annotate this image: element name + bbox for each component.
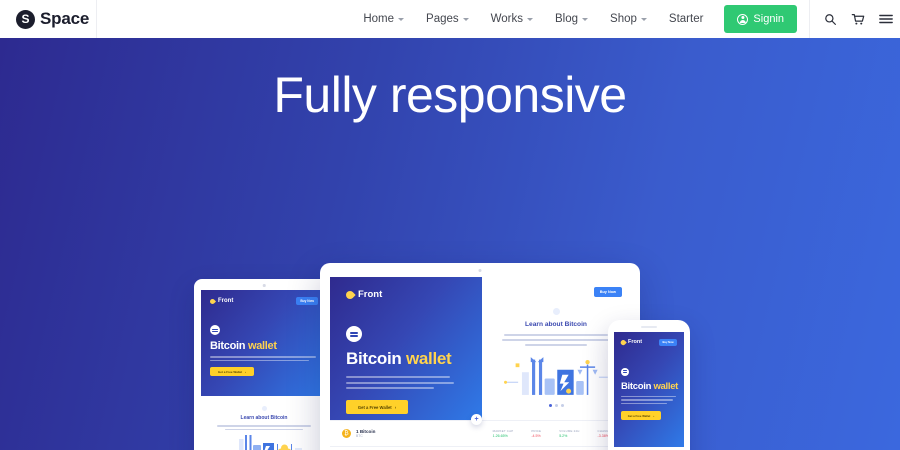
nav-item-blog[interactable]: Blog — [544, 0, 599, 38]
mock-subtext — [210, 356, 318, 361]
mock-brand: Front — [210, 298, 233, 304]
laptop-mockup: Front Buy Now Bitcoin wallet — [194, 279, 334, 450]
mock-hero-phone: Front Buy Now Bitcoin wallet — [614, 332, 684, 447]
nav-item-starter[interactable]: Starter — [658, 0, 715, 38]
nav-label: Works — [491, 13, 523, 25]
mock-cta-label: Get a Free Wallet — [218, 370, 242, 374]
chevron-down-icon — [463, 18, 469, 21]
stat-label: Market Cap — [493, 429, 514, 433]
nav-label: Starter — [669, 13, 704, 25]
nav-label: Blog — [555, 13, 578, 25]
info-badge-icon — [553, 308, 560, 315]
arrow-right-icon: › — [245, 370, 246, 374]
mock-stats-bar: ₿ 1 Bitcoin BTC Market Cap 1.26.65% Pric… — [330, 420, 630, 446]
stats-group: Market Cap 1.26.65% Price -4.5% Volume 2… — [493, 429, 618, 439]
mock-split-row: Front Bitcoin wallet — [330, 277, 630, 420]
device-showcase: Front Buy Now Bitcoin wallet — [0, 38, 900, 450]
bitcoin-logo-icon — [210, 325, 220, 335]
chevron-down-icon — [398, 18, 404, 21]
mock-headline-primary: Bitcoin — [210, 340, 245, 352]
main-nav: Home Pages Works Blog Shop Starter Signi… — [97, 0, 900, 38]
info-badge-icon — [262, 406, 267, 411]
mock-learn-laptop: Learn about Bitcoin — [201, 396, 327, 450]
chevron-down-icon — [641, 18, 647, 21]
nav-item-home[interactable]: Home — [352, 0, 415, 38]
carousel-dot[interactable] — [549, 404, 552, 407]
mock-cta-button[interactable]: Get a Free Wallet › — [621, 411, 661, 420]
signin-label: Signin — [753, 13, 784, 25]
camera-icon — [263, 284, 266, 287]
brand-logo[interactable]: S Space — [0, 0, 97, 38]
speaker-grill — [641, 326, 657, 328]
mock-cta-button[interactable]: Get a Free Wallet › — [346, 400, 408, 414]
mock-hero-tablet: Front Bitcoin wallet — [330, 277, 482, 420]
mock-hero-laptop: Front Buy Now Bitcoin wallet — [201, 290, 327, 396]
mock-section-title: Learn about Bitcoin — [201, 415, 327, 421]
bitcoin-logo-icon — [346, 326, 362, 342]
nav-label: Home — [363, 13, 394, 25]
mock-section-title: Learn about Bitcoin — [490, 321, 622, 328]
carousel-dot[interactable] — [561, 404, 564, 407]
mock-headline-primary: Bitcoin — [346, 349, 402, 368]
signin-button[interactable]: Signin — [724, 5, 797, 33]
nav-item-pages[interactable]: Pages — [415, 0, 480, 38]
mock-brand-label: Front — [358, 289, 382, 300]
mock-footer-strip — [330, 446, 630, 450]
phone-mockup: Front Buy Now Bitcoin wallet — [608, 320, 690, 450]
leaf-icon — [344, 289, 355, 300]
chevron-down-icon — [582, 18, 588, 21]
mock-headline-primary: Bitcoin — [621, 381, 651, 392]
mock-subtext — [346, 376, 466, 389]
nav-label: Pages — [426, 13, 459, 25]
bitcoin-coin-icon: ₿ — [342, 429, 351, 438]
stat-value: 1.26.65% — [493, 434, 514, 438]
stat-label: Price — [531, 429, 541, 433]
hamburger-icon[interactable] — [872, 0, 900, 38]
mock-buy-button[interactable]: Buy Now — [594, 287, 622, 297]
stat-price: Price -4.5% — [531, 429, 541, 439]
stat-market-cap: Market Cap 1.26.65% — [493, 429, 514, 439]
mock-subtext — [621, 396, 677, 405]
arrow-right-icon: › — [395, 405, 396, 410]
mock-brand-label: Front — [628, 339, 642, 345]
leaf-icon — [620, 339, 626, 345]
stat-value: 5.2% — [559, 434, 579, 438]
nav-label: Shop — [610, 13, 637, 25]
bitcoin-illustration — [222, 432, 306, 450]
mock-cta-label: Get a Free Wallet — [358, 405, 392, 410]
mock-section-body — [490, 334, 622, 346]
brand-name: Space — [40, 9, 89, 29]
hero-section: Fully responsive Front Buy Now — [0, 38, 900, 450]
search-icon[interactable] — [816, 0, 844, 38]
coin-ticker: BTC — [356, 434, 375, 438]
mock-buy-button[interactable]: Buy Now — [296, 297, 318, 305]
mock-headline-accent: wallet — [248, 340, 277, 352]
cart-icon[interactable] — [844, 0, 872, 38]
add-fab-button[interactable]: + — [471, 414, 482, 425]
mock-headline: Bitcoin wallet — [210, 340, 318, 352]
mock-headline-accent: wallet — [653, 381, 678, 392]
leaf-icon — [209, 297, 216, 304]
tablet-mockup: Front Bitcoin wallet — [320, 263, 640, 450]
logo-icon: S — [16, 10, 35, 29]
bitcoin-logo-icon — [621, 368, 629, 376]
mock-cta-button[interactable]: Get a Free Wallet › — [210, 367, 254, 376]
chevron-down-icon — [527, 18, 533, 21]
mock-headline: Bitcoin wallet — [621, 381, 677, 392]
bitcoin-illustration — [503, 353, 609, 399]
carousel-dot[interactable] — [555, 404, 558, 407]
header-tools — [809, 0, 900, 38]
mock-buy-button[interactable]: Buy Now — [659, 339, 677, 346]
carousel-dots[interactable] — [490, 404, 622, 407]
laptop-screen: Front Buy Now Bitcoin wallet — [201, 290, 327, 450]
mock-brand: Front — [621, 339, 642, 345]
mock-headline-accent: wallet — [406, 349, 451, 368]
nav-item-works[interactable]: Works — [480, 0, 544, 38]
stat-value: -4.5% — [531, 434, 541, 438]
mock-section-body — [201, 425, 327, 430]
site-header: S Space Home Pages Works Blog Shop Start… — [0, 0, 900, 38]
stat-label: Volume 24H — [559, 429, 579, 433]
mock-cta-label: Get a Free Wallet — [628, 414, 651, 418]
mock-headline: Bitcoin wallet — [346, 349, 466, 369]
mock-brand-label: Front — [218, 298, 233, 304]
arrow-right-icon: › — [653, 414, 654, 418]
tablet-screen: Front Bitcoin wallet — [330, 277, 630, 450]
stat-volume: Volume 24H 5.2% — [559, 429, 579, 439]
camera-icon — [479, 269, 482, 272]
user-circle-icon — [737, 14, 748, 25]
nav-item-shop[interactable]: Shop — [599, 0, 658, 38]
mock-brand: Front — [346, 289, 466, 300]
phone-screen: Front Buy Now Bitcoin wallet — [614, 332, 684, 450]
